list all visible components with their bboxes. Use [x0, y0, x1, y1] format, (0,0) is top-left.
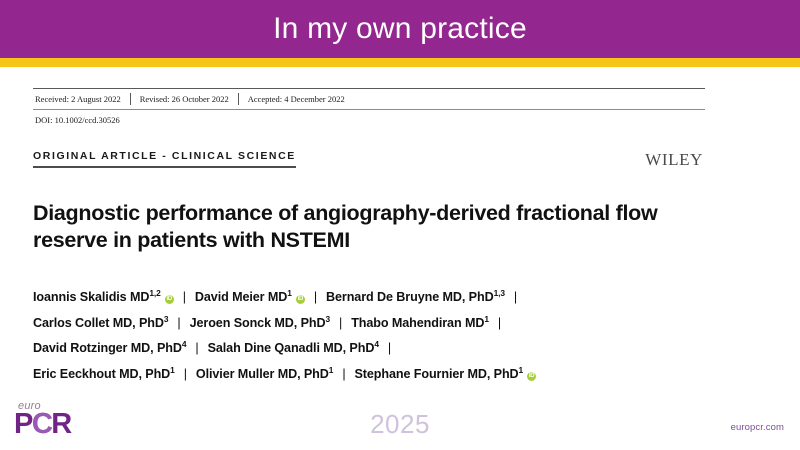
- paper-content: Received: 2 August 2022 Revised: 26 Octo…: [33, 88, 705, 387]
- author-separator: |: [333, 362, 354, 388]
- article-type-row: ORIGINAL ARTICLE - CLINICAL SCIENCE WILE…: [33, 150, 705, 168]
- banner-title: In my own practice: [273, 14, 527, 44]
- author-list: Ioannis Skalidis MD1,2iD|David Meier MD1…: [33, 285, 705, 387]
- author-separator: |: [330, 311, 351, 337]
- doi-text[interactable]: DOI: 10.1002/ccd.30526: [33, 110, 705, 130]
- author-name: David Rotzinger MD, PhD4: [33, 341, 186, 355]
- banner-accent-stripe: [0, 58, 800, 67]
- author-name: Salah Dine Qanadli MD, PhD4: [208, 341, 379, 355]
- author-name: Jeroen Sonck MD, PhD3: [190, 316, 330, 330]
- author-name: Stephane Fournier MD, PhD1: [355, 367, 524, 381]
- author-affiliation: 1: [519, 364, 524, 374]
- footer-year: 2025: [0, 410, 800, 438]
- orcid-icon[interactable]: iD: [165, 295, 174, 304]
- slide-banner: In my own practice: [0, 0, 800, 58]
- author-affiliation: 1,2: [149, 288, 160, 298]
- author-affiliation: 1,3: [494, 288, 505, 298]
- author-separator: |: [186, 336, 207, 362]
- author-separator: |: [505, 285, 526, 311]
- author-separator: |: [305, 285, 326, 311]
- orcid-icon[interactable]: iD: [296, 295, 305, 304]
- author-separator: |: [168, 311, 189, 337]
- history-accepted: Accepted: 4 December 2022: [239, 93, 354, 105]
- footer-url[interactable]: europcr.com: [731, 422, 784, 433]
- author-separator: |: [174, 285, 195, 311]
- author-separator: |: [379, 336, 400, 362]
- article-history: Received: 2 August 2022 Revised: 26 Octo…: [33, 89, 705, 109]
- author-line: Carlos Collet MD, PhD3|Jeroen Sonck MD, …: [33, 311, 705, 337]
- author-name: Thabo Mahendiran MD1: [351, 316, 489, 330]
- author-separator: |: [489, 311, 510, 337]
- paper-sheet: Received: 2 August 2022 Revised: 26 Octo…: [0, 67, 800, 450]
- wiley-logo: WILEY: [645, 151, 705, 168]
- author-name: David Meier MD1: [195, 290, 292, 304]
- author-line: Ioannis Skalidis MD1,2iD|David Meier MD1…: [33, 285, 705, 311]
- author-name: Carlos Collet MD, PhD3: [33, 316, 168, 330]
- paper-title: Diagnostic performance of angiography-de…: [33, 200, 673, 254]
- history-revised: Revised: 26 October 2022: [131, 93, 238, 105]
- author-name: Eric Eeckhout MD, PhD1: [33, 367, 175, 381]
- article-type-label: ORIGINAL ARTICLE - CLINICAL SCIENCE: [33, 150, 296, 168]
- author-name: Ioannis Skalidis MD1,2: [33, 290, 161, 304]
- history-received: Received: 2 August 2022: [33, 93, 130, 105]
- author-separator: |: [175, 362, 196, 388]
- author-line: David Rotzinger MD, PhD4|Salah Dine Qana…: [33, 336, 705, 362]
- author-line: Eric Eeckhout MD, PhD1|Olivier Muller MD…: [33, 362, 705, 388]
- orcid-icon[interactable]: iD: [527, 372, 536, 381]
- author-name: Olivier Muller MD, PhD1: [196, 367, 333, 381]
- author-name: Bernard De Bruyne MD, PhD1,3: [326, 290, 505, 304]
- author-affiliation: 1: [287, 288, 292, 298]
